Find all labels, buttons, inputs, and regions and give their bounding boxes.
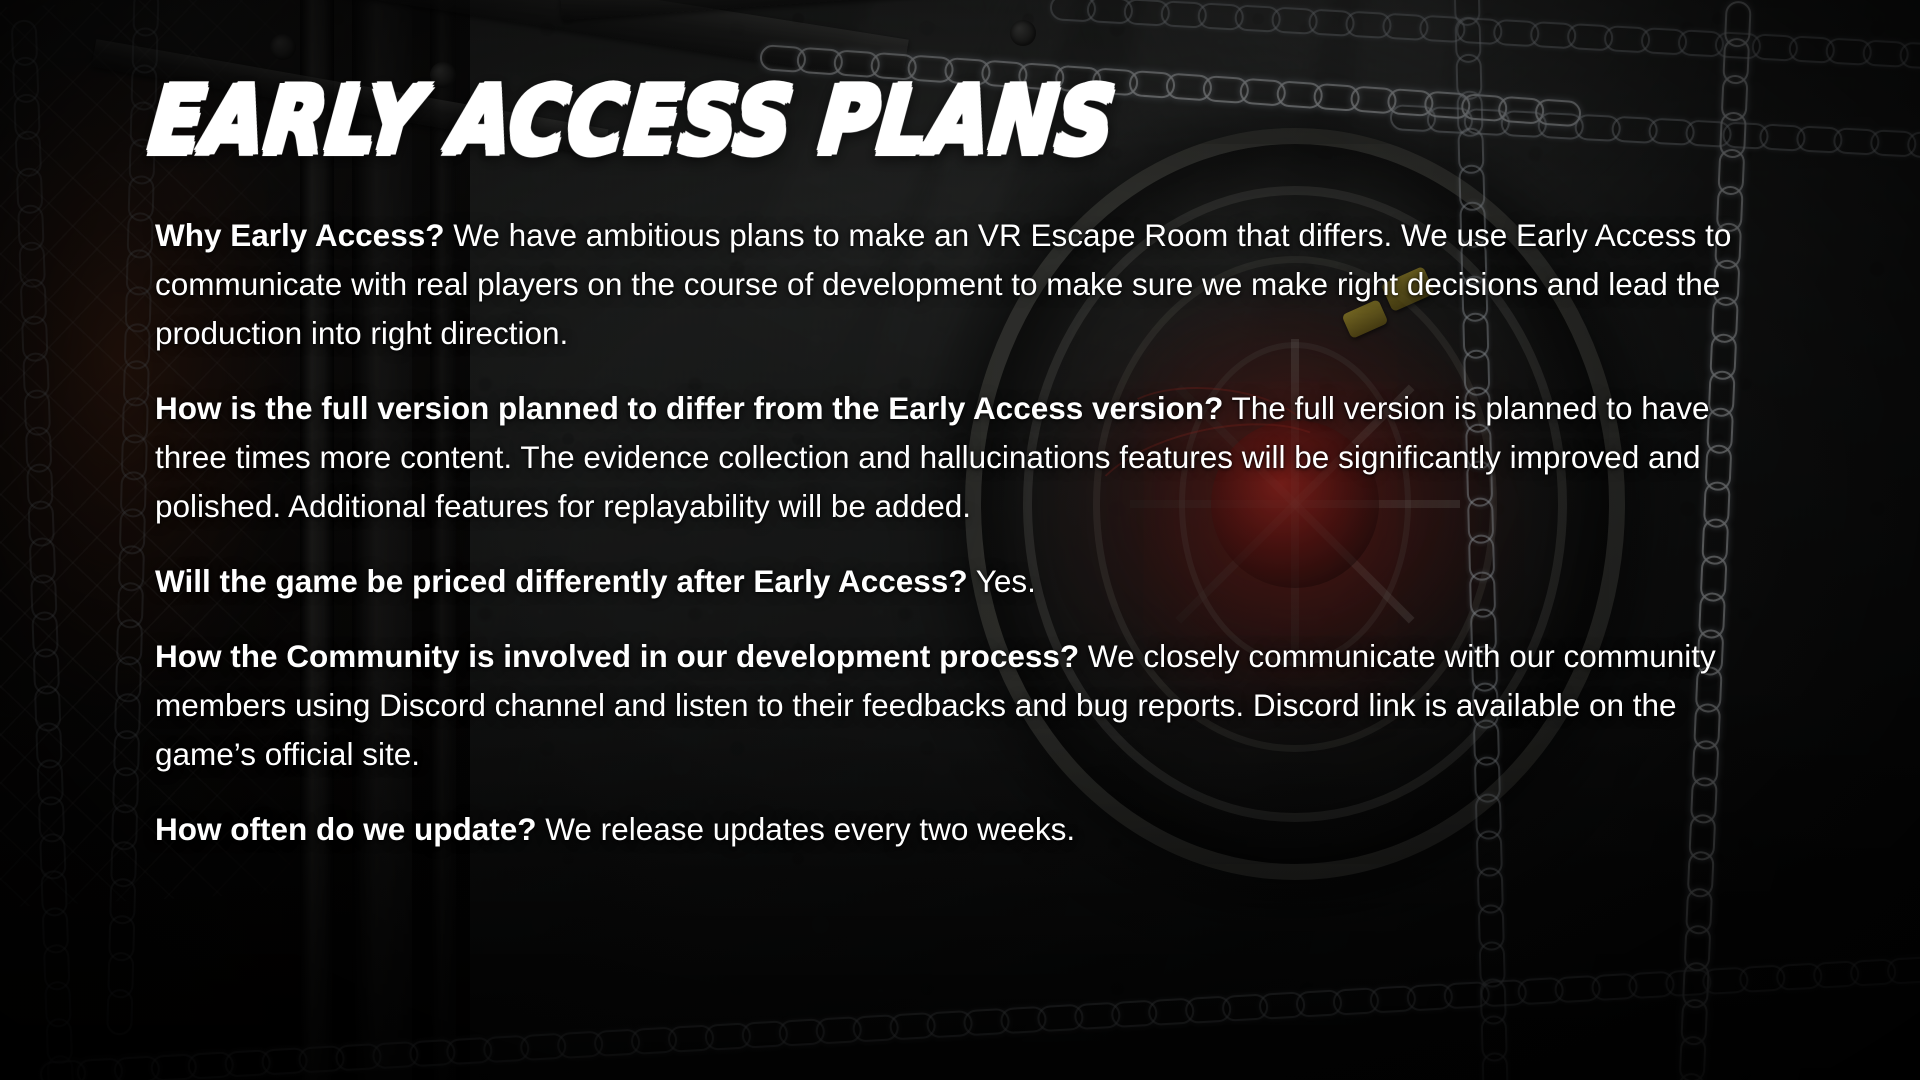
faq-entry: Why Early Access? We have ambitious plan… (155, 211, 1767, 358)
faq-question: Why Early Access? (155, 217, 444, 253)
faq-question: How often do we update? (155, 811, 536, 847)
faq-entry: How the Community is involved in our dev… (155, 632, 1767, 779)
early-access-panel: EARLY ACCESS PLANS Why Early Access? We … (0, 0, 1920, 1080)
faq-question: Will the game be priced differently afte… (155, 563, 968, 599)
page-title: EARLY ACCESS PLANS (146, 78, 1770, 166)
faq-answer: Yes. (976, 563, 1036, 599)
faq-entry: How is the full version planned to diffe… (155, 384, 1767, 531)
content-area: EARLY ACCESS PLANS Why Early Access? We … (0, 0, 1920, 1080)
faq-list: Why Early Access? We have ambitious plan… (155, 211, 1767, 854)
faq-question: How the Community is involved in our dev… (155, 638, 1079, 674)
faq-answer: We release updates every two weeks. (545, 811, 1075, 847)
faq-entry: How often do we update? We release updat… (155, 805, 1767, 854)
faq-entry: Will the game be priced differently afte… (155, 557, 1767, 606)
faq-question: How is the full version planned to diffe… (155, 390, 1223, 426)
